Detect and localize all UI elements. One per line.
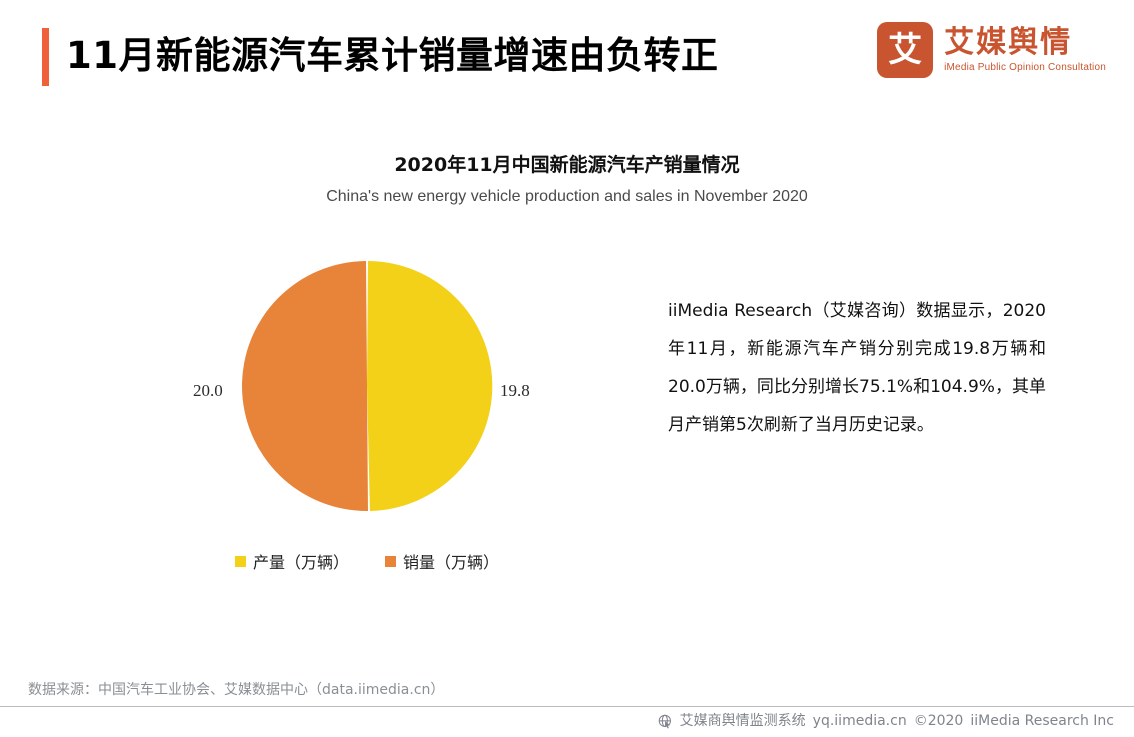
- pie-slice-sales[interactable]: [242, 261, 368, 511]
- brand-text: 艾媒舆情 iMedia Public Opinion Consultation: [944, 26, 1106, 75]
- chart-title: 2020年11月中国新能源汽车产销量情况: [0, 150, 1134, 177]
- page-header: 11月新能源汽车累计销量增速由负转正 艾 艾媒舆情 iMedia Public …: [0, 0, 1134, 110]
- brand-name-cn: 艾媒舆情: [944, 26, 1106, 60]
- chart-subtitle: China's new energy vehicle production an…: [0, 188, 1134, 206]
- brand-logo: 艾 艾媒舆情 iMedia Public Opinion Consultatio…: [877, 22, 1106, 78]
- footer-company: iiMedia Research Inc: [970, 711, 1114, 731]
- footer-copyright: ©2020: [914, 711, 964, 731]
- legend-item-sales[interactable]: 销量（万辆）: [385, 549, 499, 573]
- footer-divider: [0, 706, 1134, 707]
- legend-swatch-sales: [385, 556, 396, 567]
- page-title: 11月新能源汽车累计销量增速由负转正: [66, 27, 719, 85]
- brand-name-en: iMedia Public Opinion Consultation: [944, 61, 1106, 75]
- pie-slice-production[interactable]: [367, 261, 492, 511]
- globe-cursor-icon: [658, 714, 673, 729]
- commentary-paragraph: iiMedia Research（艾媒咨询）数据显示，2020年11月，新能源汽…: [668, 292, 1046, 444]
- legend-item-production[interactable]: 产量（万辆）: [235, 549, 349, 573]
- pie-label-production: 19.8: [500, 381, 530, 401]
- legend-label-sales: 销量（万辆）: [403, 549, 499, 573]
- chart-legend: 产量（万辆） 销量（万辆）: [0, 549, 734, 573]
- title-accent-bar: [42, 28, 49, 86]
- pie-label-sales: 20.0: [193, 381, 223, 401]
- legend-swatch-production: [235, 556, 246, 567]
- footer-site-link[interactable]: yq.iimedia.cn: [813, 711, 907, 731]
- footer-bar: 艾媒商舆情监测系统 yq.iimedia.cn ©2020 iiMedia Re…: [658, 711, 1114, 731]
- source-note: 数据来源：中国汽车工业协会、艾媒数据中心（data.iimedia.cn）: [28, 679, 444, 699]
- footer-system-name: 艾媒商舆情监测系统: [680, 711, 806, 731]
- legend-label-production: 产量（万辆）: [253, 549, 349, 573]
- brand-mark-icon: 艾: [877, 22, 933, 78]
